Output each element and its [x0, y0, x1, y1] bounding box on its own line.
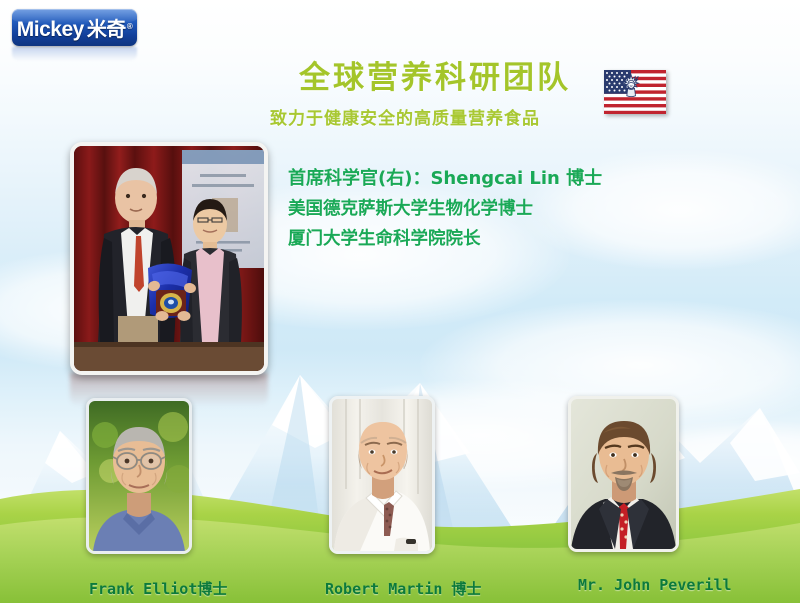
slide-canvas: Mickey 米奇 ® 全球营养科研团队 致力于健康安全的高质量营养食品	[0, 0, 800, 603]
logo-text-en: Mickey	[17, 18, 84, 42]
logo-text-cn: 米奇	[87, 13, 126, 42]
chief-scientist-bio: 首席科学官(右)：Shengcai Lin 博士 美国德克萨斯大学生物化学博士 …	[288, 164, 708, 254]
bio-line-1: 首席科学官(右)：Shengcai Lin 博士	[288, 164, 708, 194]
brand-logo[interactable]: Mickey 米奇 ®	[12, 9, 137, 46]
page-title: 全球营养科研团队	[245, 52, 625, 97]
page-subtitle: 致力于健康安全的高质量营养食品	[215, 104, 595, 129]
logo-reflection	[12, 47, 137, 61]
portrait-john-peverill[interactable]	[568, 396, 679, 552]
team-member-name-1: Frank Elliot博士	[89, 578, 227, 599]
bio-line-2: 美国德克萨斯大学生物化学博士	[288, 194, 708, 224]
team-member-name-2: Robert Martin 博士	[325, 578, 481, 599]
portrait-frank-elliot[interactable]	[86, 398, 192, 554]
team-member-name-3: Mr. John Peverill	[578, 576, 732, 594]
bio-line-3: 厦门大学生命科学院院长	[288, 224, 708, 254]
us-flag-icon	[604, 70, 666, 114]
award-ceremony-photo[interactable]	[70, 142, 268, 375]
portrait-robert-martin[interactable]	[329, 396, 435, 554]
registered-trademark-icon: ®	[127, 22, 132, 31]
